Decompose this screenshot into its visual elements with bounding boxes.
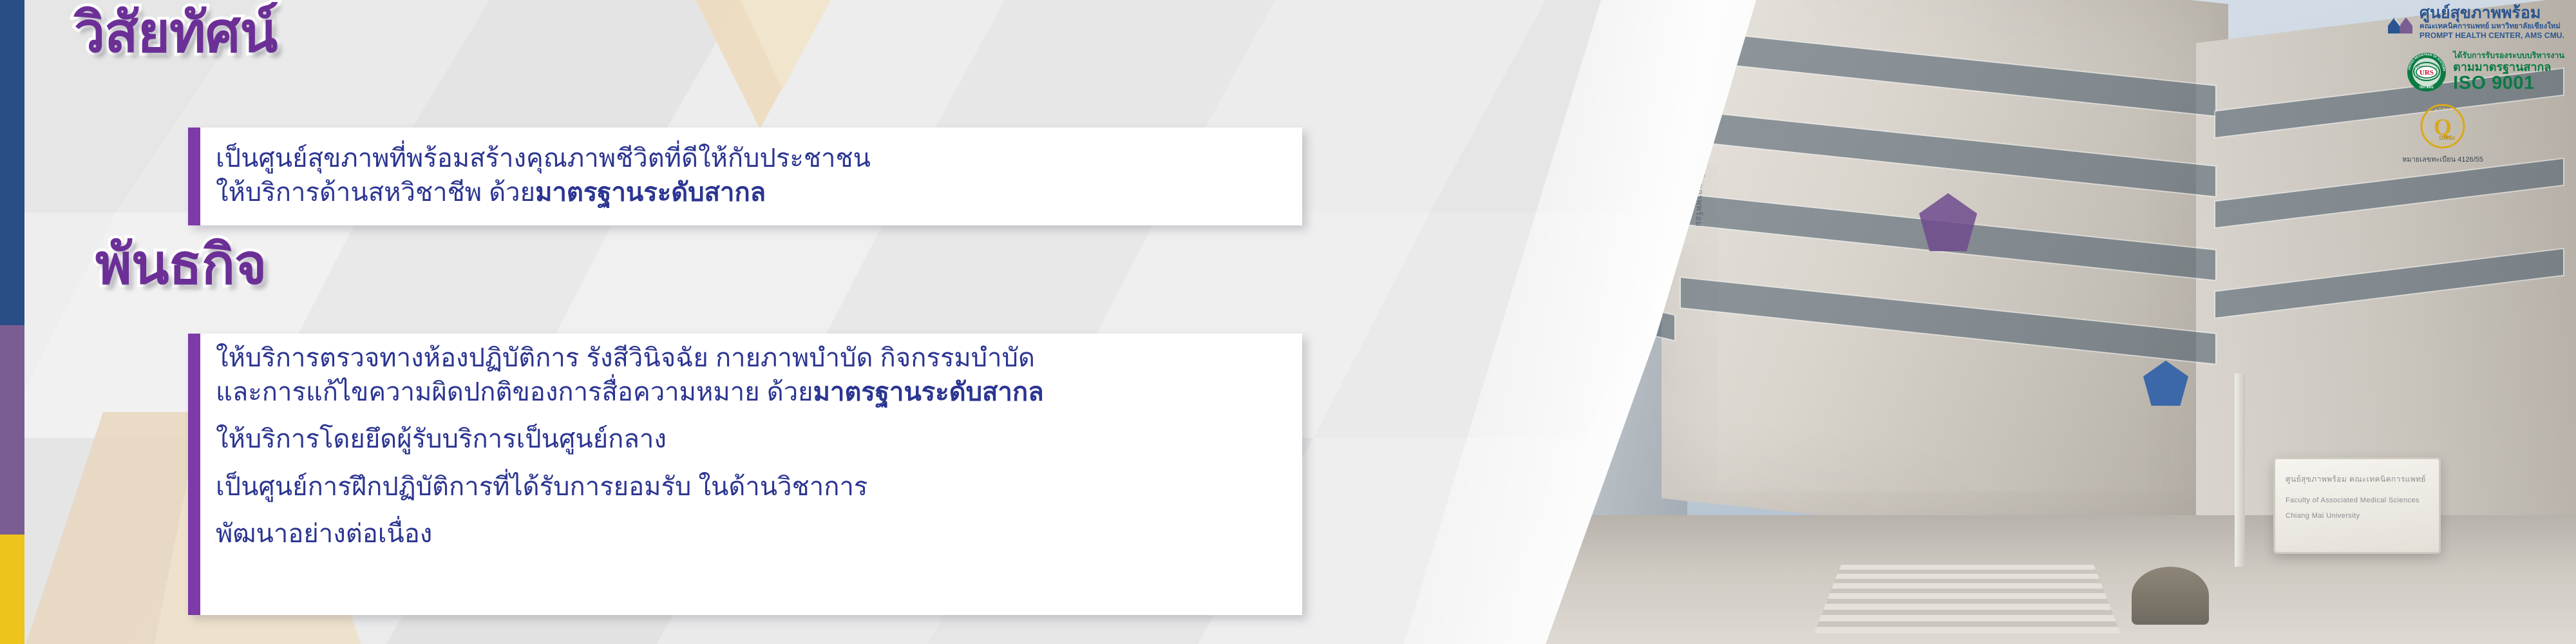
quality-seal-row: Q DMSc หมายเลขทะเบียน 4126/55 <box>2321 102 2564 165</box>
mission-item-line1: ให้บริการโดยยึดผู้รับบริการเป็นศูนย์กลาง <box>216 425 667 453</box>
mission-item-line1: เป็นศูนย์การฝึกปฏิบัติการที่ได้รับการยอม… <box>216 473 867 501</box>
mission-item-line1: พัฒนาอย่างต่อเนื่อง <box>216 520 432 548</box>
vision-card: เป็นศูนย์สุขภาพที่พร้อมสร้างคุณภาพชีวิตท… <box>188 128 1302 225</box>
vision-card-body: เป็นศูนย์สุขภาพที่พร้อมสร้างคุณภาพชีวิตท… <box>200 128 1302 225</box>
vision-line-2-bold: มาตรฐานระดับสากล <box>535 178 766 207</box>
mission-card: ให้บริการตรวจทางห้องปฏิบัติการ รังสีวินิ… <box>188 334 1302 615</box>
mission-item-line2: และการแก้ไขความผิดปกติของการสื่อความหมาย… <box>216 375 1285 410</box>
brand-subtitle-english: PROMPT HEALTH CENTER, AMS CMU. <box>2420 31 2564 40</box>
accent-bar-gold <box>0 535 24 644</box>
urs-seal-bottom-label: ISO 9001 <box>2420 86 2434 90</box>
vision-card-accent <box>188 128 200 225</box>
q-seal-sub: DMSc <box>2439 135 2455 141</box>
mission-item: ให้บริการตรวจทางห้องปฏิบัติการ รังสีวินิ… <box>216 341 1285 410</box>
accent-bar-purple <box>0 325 24 535</box>
brand-logo-row: ศูนย์สุขภาพพร้อม คณะเทคนิคการแพทย์ มหาวิ… <box>2387 5 2564 41</box>
q-dmsc-seal-icon: Q DMSc <box>2419 102 2467 150</box>
building-sign: ศูนย์สุขภาพพร้อม คณะเทคนิคการแพทย์ Facul… <box>2273 457 2441 554</box>
vision-heading: วิสัยทัศน์ <box>74 5 277 61</box>
vision-line-2-normal: ให้บริการด้านสหวิชาชีพ ด้วย <box>216 178 535 207</box>
brand-subtitle-thai: คณะเทคนิคการแพทย์ มหาวิทยาลัยเชียงใหม่ <box>2420 22 2561 31</box>
mission-item: พัฒนาอย่างต่อเนื่อง <box>216 517 1285 551</box>
mission-item-line2-bold: มาตรฐานระดับสากล <box>813 378 1044 406</box>
mission-card-accent <box>188 334 200 615</box>
accent-bar-blue <box>0 0 24 325</box>
iso-line-2: ตามมาตรฐานสากล <box>2453 61 2564 74</box>
q-seal-graphic: Q DMSc <box>2419 102 2467 150</box>
mission-heading: พันธกิจ <box>95 237 266 292</box>
iso-certification-row: URS ISO 9001 UNITED REGISTRAR OF SYSTEMS… <box>2407 51 2564 93</box>
entrance-steps <box>1814 565 2120 633</box>
lamp-post <box>2235 374 2245 567</box>
logo-chevrons-icon <box>2387 9 2414 36</box>
vision-mission-banner: ศูนย์สุขภาพพร้อม คณะเทคนิคการแพทย์ Facul… <box>0 0 2576 644</box>
vision-line-2: ให้บริการด้านสหวิชาชีพ ด้วยมาตรฐานระดับส… <box>216 176 1285 210</box>
mission-item-line1: ให้บริการตรวจทางห้องปฏิบัติการ รังสีวินิ… <box>216 344 1035 372</box>
prompt-health-center-logo-icon <box>2387 9 2414 36</box>
iso-text-block: ได้รับการรับรองระบบบริหารงาน ตามมาตรฐานส… <box>2453 51 2564 93</box>
vision-line-1: เป็นศูนย์สุขภาพที่พร้อมสร้างคุณภาพชีวิตท… <box>216 142 1285 176</box>
iso-line-3: ISO 9001 <box>2453 73 2564 93</box>
building-sign-line3: Chiang Mai University <box>2286 512 2432 520</box>
brand-text-block: ศูนย์สุขภาพพร้อม คณะเทคนิคการแพทย์ มหาวิ… <box>2420 5 2564 41</box>
planter <box>2132 567 2209 625</box>
mission-card-body: ให้บริการตรวจทางห้องปฏิบัติการ รังสีวินิ… <box>200 334 1302 615</box>
mission-item: ให้บริการโดยยึดผู้รับบริการเป็นศูนย์กลาง <box>216 422 1285 457</box>
registration-number: หมายเลขทะเบียน 4126/55 <box>2402 153 2483 165</box>
mission-item-line2-normal: และการแก้ไขความผิดปกติของการสื่อความหมาย… <box>216 378 813 406</box>
brand-block: ศูนย์สุขภาพพร้อม คณะเทคนิคการแพทย์ มหาวิ… <box>2321 5 2564 165</box>
urs-seal-inner-label: URS <box>2420 69 2434 77</box>
brand-title: ศูนย์สุขภาพพร้อม <box>2420 5 2541 22</box>
urs-seal-icon: URS ISO 9001 UNITED REGISTRAR OF SYSTEMS <box>2407 52 2447 92</box>
urs-seal-graphic: URS ISO 9001 UNITED REGISTRAR OF SYSTEMS <box>2407 52 2447 92</box>
building-sign-line1: ศูนย์สุขภาพพร้อม คณะเทคนิคการแพทย์ <box>2286 473 2432 486</box>
building-sign-line2: Faculty of Associated Medical Sciences <box>2286 497 2432 504</box>
iso-line-1: ได้รับการรับรองระบบบริหารงาน <box>2453 51 2564 61</box>
mission-item: เป็นศูนย์การฝึกปฏิบัติการที่ได้รับการยอม… <box>216 470 1285 504</box>
